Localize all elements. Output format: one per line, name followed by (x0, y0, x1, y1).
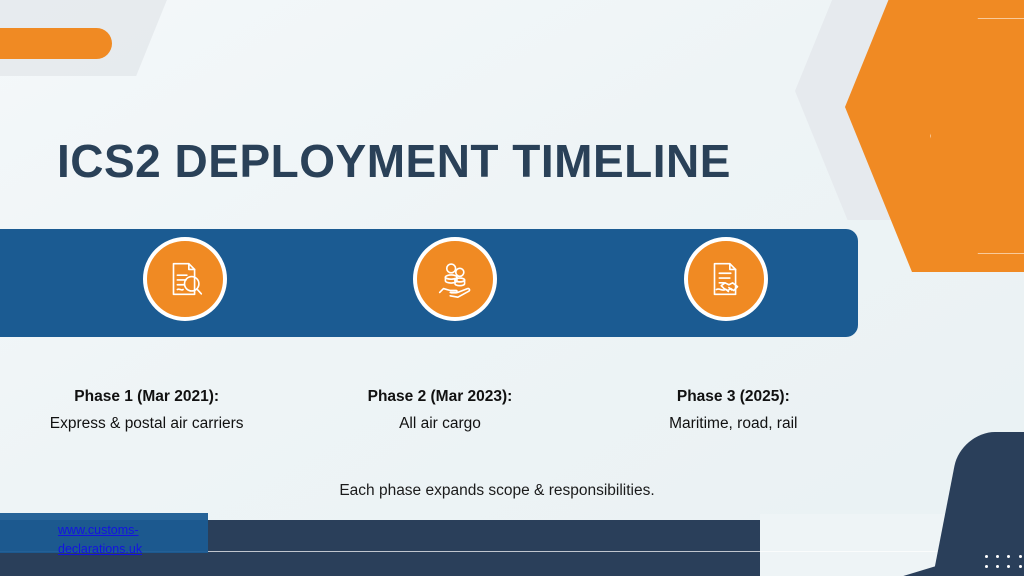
phase-3-icon-badge[interactable] (684, 237, 768, 321)
phase-2-description: All air cargo (293, 415, 586, 433)
phase-2-icon-badge[interactable] (413, 237, 497, 321)
watermark-link[interactable]: www.customs-declarations.uk (58, 521, 188, 560)
top-right-outline-hexagon (930, 18, 1024, 254)
summary-footnote: Each phase expands scope & responsibilit… (0, 482, 1024, 500)
phase-caption-1: Phase 1 (Mar 2021): Express & postal air… (0, 388, 293, 433)
phase-1-description: Express & postal air carriers (0, 415, 293, 433)
document-search-icon (162, 256, 208, 302)
top-right-orange-hexagon (845, 0, 1024, 272)
dot-grid-decoration (981, 551, 1024, 571)
phase-caption-row: Phase 1 (Mar 2021): Express & postal air… (0, 388, 880, 433)
phase-caption-3: Phase 3 (2025): Maritime, road, rail (587, 388, 880, 433)
bottom-center-gray-shape (690, 540, 870, 576)
phase-1-heading: Phase 1 (Mar 2021): (0, 388, 293, 406)
hand-holding-coins-icon (432, 256, 478, 302)
top-right-gray-hexagon (795, 0, 1005, 220)
bottom-right-navy-shape (928, 432, 1024, 576)
phase-1-icon-badge[interactable] (143, 237, 227, 321)
slide-canvas: ICS2 DEPLOYMENT TIMELINE (0, 0, 1024, 576)
phase-2-heading: Phase 2 (Mar 2023): (293, 388, 586, 406)
bottom-navy-cutout (760, 514, 1024, 576)
document-handshake-icon (703, 256, 749, 302)
phase-3-heading: Phase 3 (2025): (587, 388, 880, 406)
top-left-gray-shape (0, 0, 184, 76)
top-left-orange-bar (0, 28, 112, 59)
page-title: ICS2 DEPLOYMENT TIMELINE (57, 134, 731, 188)
phase-caption-2: Phase 2 (Mar 2023): All air cargo (293, 388, 586, 433)
phase-3-description: Maritime, road, rail (587, 415, 880, 433)
